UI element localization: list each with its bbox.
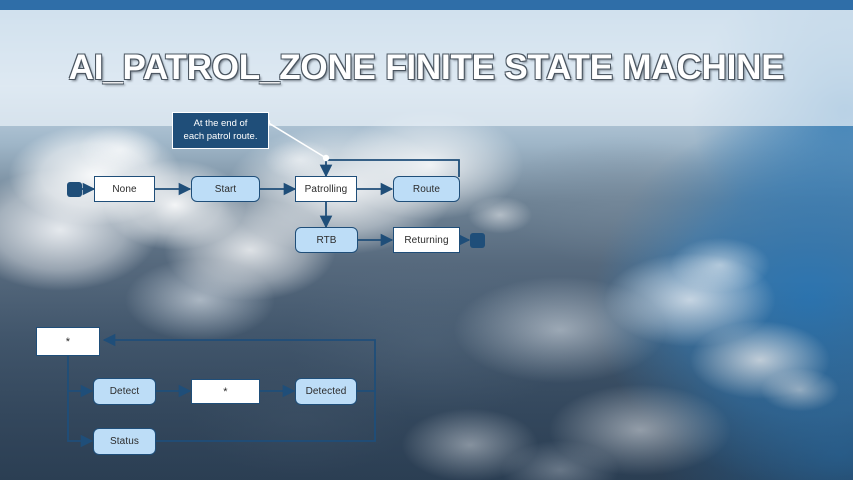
node-any-mid[interactable]: *	[191, 379, 260, 404]
node-detect-label: Detect	[110, 386, 140, 397]
node-status-label: Status	[110, 436, 139, 447]
node-none[interactable]: None	[94, 176, 155, 202]
callout-line-2: each patrol route.	[178, 130, 263, 143]
start-marker	[67, 182, 82, 197]
callout-line-1: At the end of	[178, 117, 263, 130]
node-route-label: Route	[413, 184, 440, 195]
callout-box: At the end of each patrol route.	[172, 112, 269, 149]
node-patrolling-label: Patrolling	[305, 184, 348, 195]
node-any-mid-label: *	[223, 386, 227, 398]
node-returning[interactable]: Returning	[393, 227, 460, 253]
node-any-top-label: *	[66, 336, 70, 348]
node-detected[interactable]: Detected	[295, 378, 357, 405]
node-rtb[interactable]: RTB	[295, 227, 358, 253]
node-detected-label: Detected	[306, 386, 347, 397]
node-rtb-label: RTB	[316, 235, 336, 246]
slide-canvas: AI_PATROL_ZONE FINITE STATE MACHINE	[0, 0, 853, 480]
node-patrolling[interactable]: Patrolling	[295, 176, 357, 202]
node-none-label: None	[112, 184, 136, 195]
node-route[interactable]: Route	[393, 176, 460, 202]
node-any-top[interactable]: *	[36, 327, 100, 356]
page-title: AI_PATROL_ZONE FINITE STATE MACHINE	[0, 48, 853, 88]
node-returning-label: Returning	[404, 235, 448, 246]
node-start-label: Start	[215, 184, 237, 195]
title-band-rule	[0, 0, 853, 10]
node-status[interactable]: Status	[93, 428, 156, 455]
end-marker	[470, 233, 485, 248]
node-detect[interactable]: Detect	[93, 378, 156, 405]
node-start[interactable]: Start	[191, 176, 260, 202]
